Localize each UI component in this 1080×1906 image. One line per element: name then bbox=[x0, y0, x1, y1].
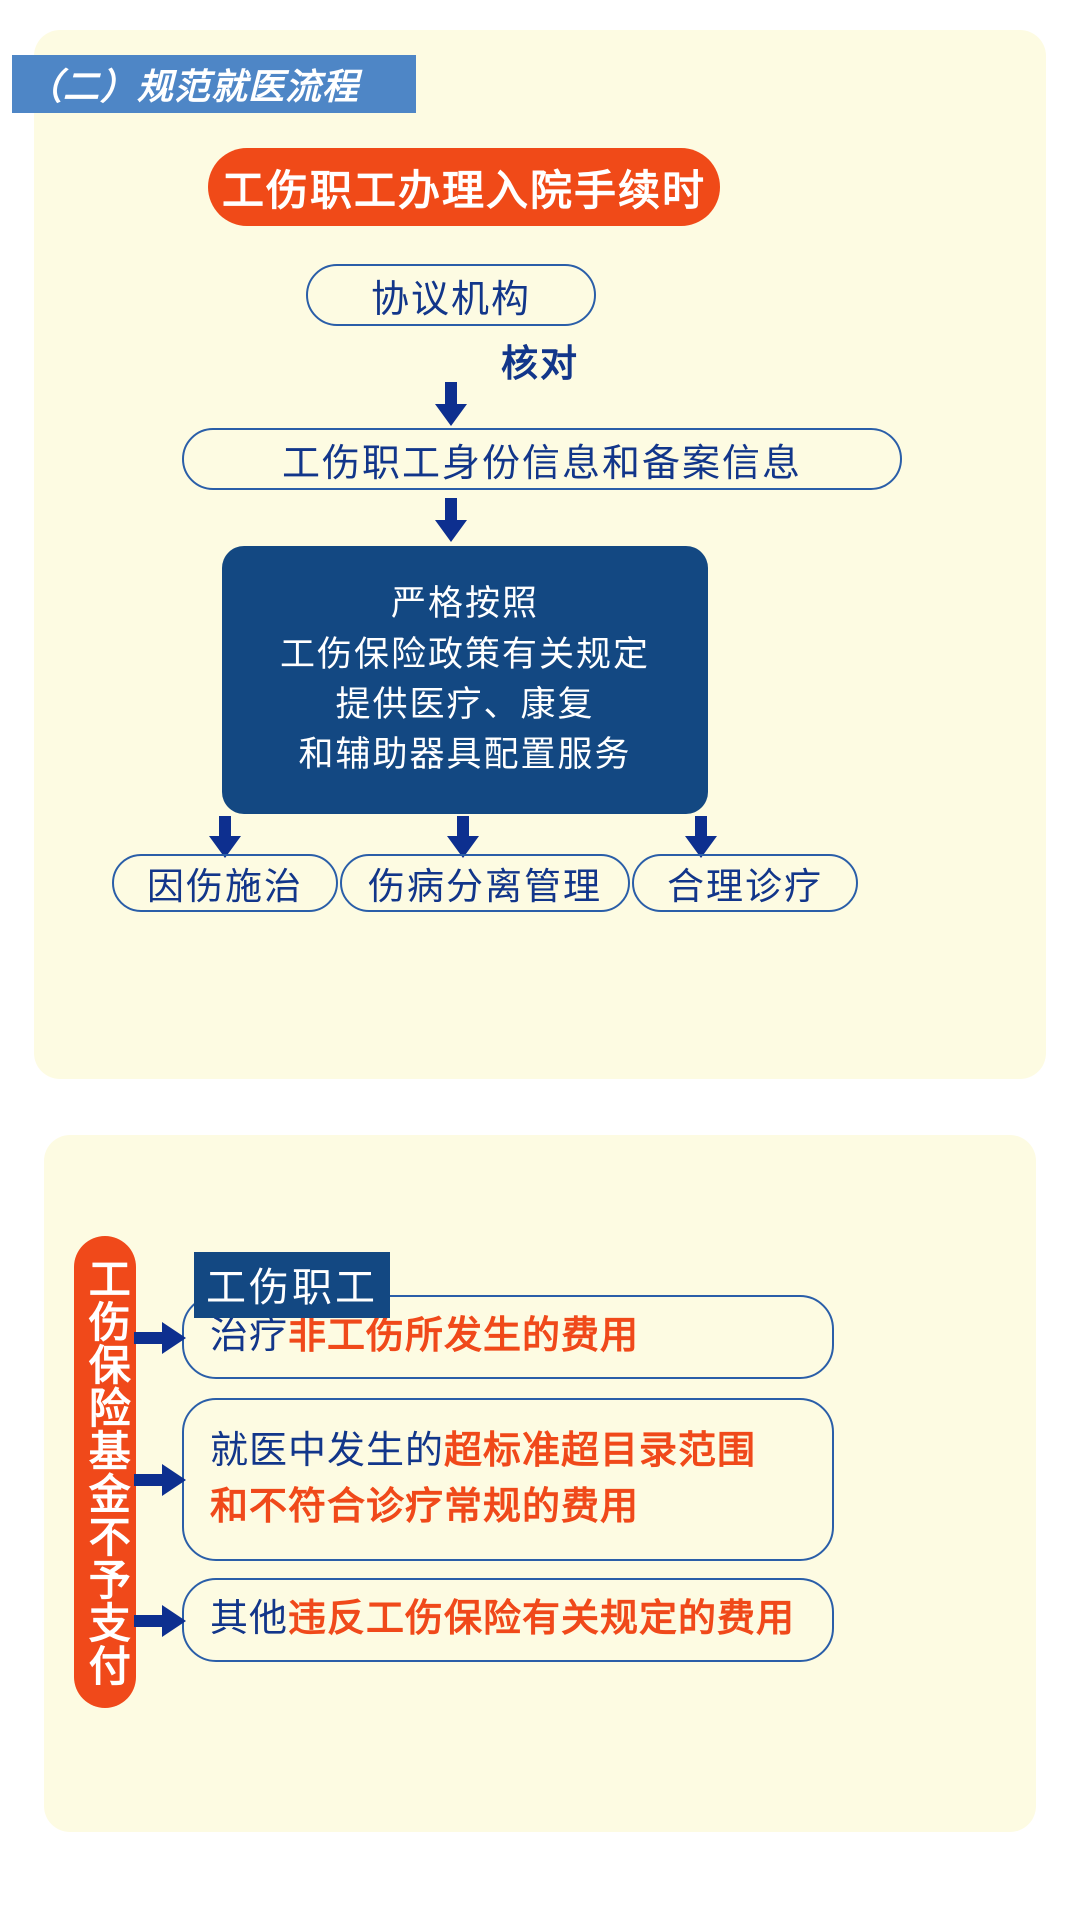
arrow-down-icon-3 bbox=[202, 816, 248, 858]
rule-item-2: 就医中发生的超标准超目录范围 和不符合诊疗常规的费用 bbox=[182, 1398, 834, 1561]
flow-title-label: 工伤职工办理入院手续时 bbox=[222, 157, 706, 218]
rule-item-2-prefix: 就医中发生的 bbox=[210, 1430, 444, 1472]
worker-tag: 工伤职工 bbox=[194, 1252, 390, 1318]
outcome-pill-2: 伤病分离管理 bbox=[340, 854, 630, 912]
rule-item-3-highlight: 违反工伤保险有关规定的费用 bbox=[288, 1598, 795, 1640]
policy-box-line-3: 提供医疗、康复 bbox=[335, 681, 594, 729]
policy-box-line-2: 工伤保险政策有关规定 bbox=[280, 631, 650, 679]
node-identity: 工伤职工身份信息和备案信息 bbox=[182, 428, 902, 490]
non-payment-bar: 工伤保险基金不予支付 bbox=[74, 1236, 136, 1708]
non-payment-bar-label: 工伤保险基金不予支付 bbox=[83, 1257, 128, 1687]
section-banner: （二）规范就医流程 bbox=[12, 55, 416, 113]
node-agency: 协议机构 bbox=[306, 264, 596, 326]
node-agency-label: 协议机构 bbox=[371, 268, 531, 323]
flow-title-pill: 工伤职工办理入院手续时 bbox=[208, 148, 720, 226]
arrow-down-icon-5 bbox=[678, 816, 724, 858]
policy-box: 严格按照 工伤保险政策有关规定 提供医疗、康复 和辅助器具配置服务 bbox=[222, 546, 708, 814]
worker-tag-label: 工伤职工 bbox=[206, 1266, 378, 1310]
arrow-right-icon-3 bbox=[134, 1601, 186, 1641]
rule-item-3-prefix: 其他 bbox=[210, 1598, 288, 1640]
outcome-pill-2-label: 伤病分离管理 bbox=[368, 856, 602, 910]
flow-action-label: 核对 bbox=[0, 333, 1080, 387]
outcome-pill-3: 合理诊疗 bbox=[632, 854, 858, 912]
rule-item-3-text: 其他违反工伤保险有关规定的费用 bbox=[210, 1592, 795, 1647]
outcome-pill-1: 因伤施治 bbox=[112, 854, 338, 912]
rule-item-2-text: 就医中发生的超标准超目录范围 和不符合诊疗常规的费用 bbox=[210, 1424, 756, 1534]
outcome-pill-1-label: 因伤施治 bbox=[147, 856, 303, 910]
section-banner-label: （二）规范就医流程 bbox=[12, 58, 359, 110]
rule-item-3: 其他违反工伤保险有关规定的费用 bbox=[182, 1578, 834, 1662]
arrow-down-icon-2 bbox=[428, 498, 474, 542]
node-identity-label: 工伤职工身份信息和备案信息 bbox=[282, 432, 802, 487]
policy-box-line-4: 和辅助器具配置服务 bbox=[298, 731, 631, 779]
arrow-down-icon-4 bbox=[440, 816, 486, 858]
outcome-pill-3-label: 合理诊疗 bbox=[667, 856, 823, 910]
rule-item-1-highlight: 非工伤所发生的费用 bbox=[288, 1315, 639, 1357]
rule-item-2-highlight-line2: 和不符合诊疗常规的费用 bbox=[210, 1486, 639, 1528]
rule-item-2-highlight: 超标准超目录范围 bbox=[444, 1430, 756, 1472]
arrow-down-icon-1 bbox=[428, 382, 474, 426]
arrow-right-icon-2 bbox=[134, 1460, 186, 1500]
arrow-right-icon-1 bbox=[134, 1318, 186, 1358]
rule-item-1-prefix: 治疗 bbox=[210, 1315, 288, 1357]
policy-box-line-1: 严格按照 bbox=[391, 580, 539, 628]
